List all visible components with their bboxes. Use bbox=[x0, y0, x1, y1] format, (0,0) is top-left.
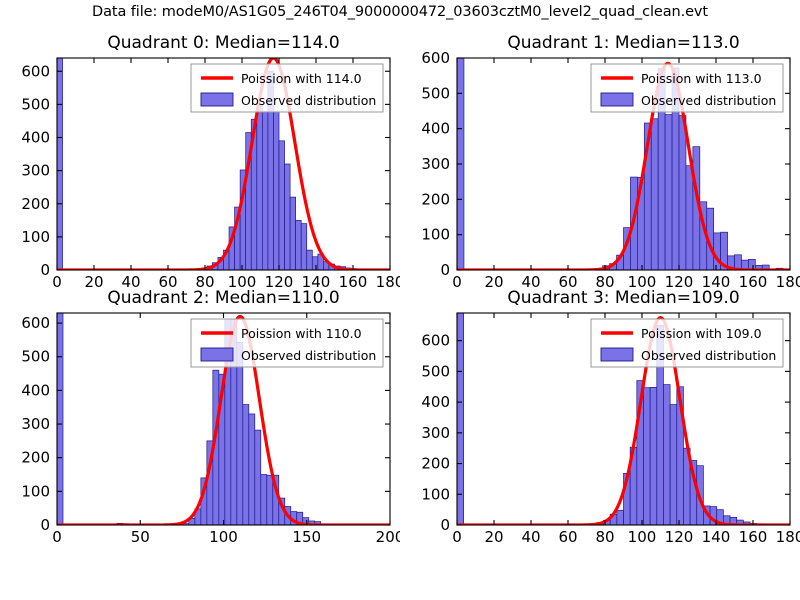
x-tick-label: 100 bbox=[209, 528, 238, 546]
legend-patch-marker bbox=[601, 348, 633, 361]
histogram-bar bbox=[249, 414, 255, 525]
histogram-bar bbox=[665, 115, 672, 270]
y-tick-label: 100 bbox=[421, 485, 450, 503]
y-tick-label: 300 bbox=[21, 415, 50, 433]
y-tick-label: 600 bbox=[421, 49, 450, 67]
histogram-bar bbox=[670, 405, 677, 525]
y-tick-label: 100 bbox=[421, 226, 450, 244]
legend-label: Observed distribution bbox=[641, 348, 776, 363]
quadrant-0-title: Quadrant 0: Median=114.0 bbox=[107, 33, 339, 53]
quadrant-2-title: Quadrant 2: Median=110.0 bbox=[107, 288, 339, 308]
quadrant-1-title: Quadrant 1: Median=113.0 bbox=[507, 33, 739, 53]
y-tick-label: 0 bbox=[440, 261, 450, 279]
legend-label: Observed distribution bbox=[241, 348, 376, 363]
y-tick-label: 300 bbox=[421, 155, 450, 173]
x-tick-label: 20 bbox=[484, 528, 503, 546]
y-tick-label: 300 bbox=[21, 162, 50, 180]
histogram-bar bbox=[650, 387, 657, 525]
x-tick-label: 120 bbox=[665, 528, 694, 546]
quadrant-2-plot: Quadrant 2: Median=110.00501001502000100… bbox=[0, 283, 400, 555]
histogram-bar bbox=[279, 141, 285, 270]
quadrant-1-legend[interactable]: Poission with 113.0Observed distribution bbox=[591, 64, 783, 112]
subplot-quadrant-3: Quadrant 3: Median=109.00204060801001201… bbox=[400, 283, 800, 555]
y-tick-label: 0 bbox=[440, 516, 450, 534]
y-tick-label: 0 bbox=[40, 516, 50, 534]
y-tick-label: 100 bbox=[21, 482, 50, 500]
quadrant-3-legend[interactable]: Poission with 109.0Observed distribution bbox=[591, 319, 783, 367]
y-tick-label: 500 bbox=[421, 84, 450, 102]
y-tick-label: 500 bbox=[21, 95, 50, 113]
figure-suptitle: Data file: modeM0/AS1G05_246T04_90000004… bbox=[0, 4, 800, 20]
y-tick-label: 200 bbox=[421, 190, 450, 208]
histogram-bar bbox=[273, 112, 279, 270]
legend-label: Observed distribution bbox=[641, 93, 776, 108]
y-tick-label: 300 bbox=[421, 424, 450, 442]
histogram-bar bbox=[643, 388, 650, 525]
quadrant-0-plot: Quadrant 0: Median=114.00204060801001201… bbox=[0, 28, 400, 300]
legend-label: Observed distribution bbox=[241, 93, 376, 108]
y-tick-label: 400 bbox=[421, 393, 450, 411]
histogram-bar bbox=[301, 224, 307, 270]
quadrant-1-plot: Quadrant 1: Median=113.00204060801001201… bbox=[400, 28, 800, 300]
x-tick-label: 0 bbox=[52, 528, 62, 546]
legend-label: Poission with 110.0 bbox=[241, 326, 362, 341]
histogram-bar bbox=[255, 430, 261, 525]
y-tick-label: 200 bbox=[421, 455, 450, 473]
histogram-bar bbox=[261, 475, 267, 525]
x-tick-label: 50 bbox=[131, 528, 150, 546]
legend-patch-marker bbox=[601, 93, 633, 106]
y-tick-label: 100 bbox=[21, 228, 50, 246]
subplot-quadrant-0: Quadrant 0: Median=114.00204060801001201… bbox=[0, 28, 400, 300]
histogram-bar bbox=[663, 385, 670, 525]
x-tick-label: 60 bbox=[558, 528, 577, 546]
y-tick-label: 600 bbox=[21, 314, 50, 332]
x-tick-label: 140 bbox=[702, 528, 731, 546]
histogram-bar bbox=[617, 510, 624, 525]
quadrant-0-legend[interactable]: Poission with 114.0Observed distribution bbox=[191, 64, 383, 112]
x-tick-label: 40 bbox=[521, 528, 540, 546]
histogram-bar bbox=[714, 233, 721, 270]
legend-label: Poission with 113.0 bbox=[641, 71, 762, 86]
histogram-bar bbox=[257, 104, 263, 270]
subplot-quadrant-1: Quadrant 1: Median=113.00204060801001201… bbox=[400, 28, 800, 300]
y-tick-label: 0 bbox=[40, 261, 50, 279]
histogram-bar bbox=[243, 405, 249, 525]
histogram-bar bbox=[57, 313, 63, 525]
y-tick-label: 200 bbox=[21, 449, 50, 467]
y-tick-label: 400 bbox=[21, 129, 50, 147]
histogram-bar bbox=[57, 58, 63, 270]
histogram-bar bbox=[237, 342, 243, 525]
y-tick-label: 600 bbox=[421, 332, 450, 350]
x-tick-label: 160 bbox=[739, 528, 768, 546]
figure-canvas: Data file: modeM0/AS1G05_246T04_90000004… bbox=[0, 0, 800, 600]
histogram-bar bbox=[312, 257, 318, 270]
histogram-bar bbox=[296, 220, 302, 270]
x-tick-label: 0 bbox=[452, 528, 462, 546]
histogram-bar bbox=[267, 475, 273, 525]
histogram-bar bbox=[679, 116, 686, 270]
subplot-quadrant-2: Quadrant 2: Median=110.00501001502000100… bbox=[0, 283, 400, 555]
legend-patch-marker bbox=[201, 93, 233, 106]
legend-patch-marker bbox=[201, 348, 233, 361]
x-tick-label: 150 bbox=[292, 528, 321, 546]
y-tick-label: 600 bbox=[21, 62, 50, 80]
histogram-bar bbox=[290, 197, 296, 270]
quadrant-2-legend[interactable]: Poission with 110.0Observed distribution bbox=[191, 319, 383, 367]
x-tick-label: 180 bbox=[776, 528, 800, 546]
y-tick-label: 400 bbox=[421, 120, 450, 138]
y-tick-label: 400 bbox=[21, 381, 50, 399]
y-tick-label: 200 bbox=[21, 195, 50, 213]
quadrant-3-title: Quadrant 3: Median=109.0 bbox=[507, 288, 739, 308]
x-tick-label: 80 bbox=[595, 528, 614, 546]
histogram-bar bbox=[307, 250, 313, 270]
y-tick-label: 500 bbox=[421, 362, 450, 380]
legend-label: Poission with 114.0 bbox=[241, 71, 362, 86]
histogram-bar bbox=[285, 164, 291, 270]
histogram-bar bbox=[651, 119, 658, 270]
histogram-bar bbox=[262, 112, 268, 270]
legend-label: Poission with 109.0 bbox=[641, 326, 762, 341]
y-tick-label: 500 bbox=[21, 348, 50, 366]
x-tick-label: 100 bbox=[628, 528, 657, 546]
x-tick-label: 200 bbox=[376, 528, 400, 546]
quadrant-3-plot: Quadrant 3: Median=109.00204060801001201… bbox=[400, 283, 800, 555]
histogram-bar bbox=[457, 313, 464, 525]
histogram-bar bbox=[686, 166, 693, 270]
